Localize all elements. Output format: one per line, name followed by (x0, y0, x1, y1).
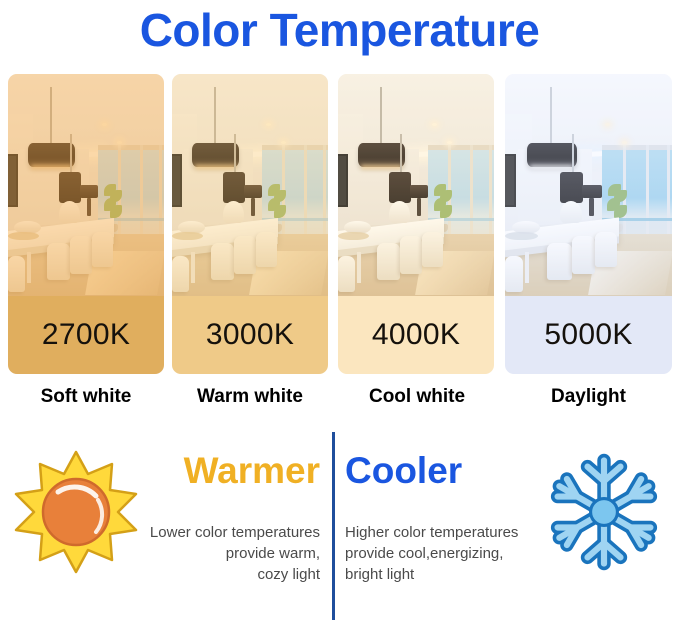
caption-cool-white: Cool white (338, 386, 496, 408)
panel-captions: Soft white Warm white Cool white Dayligh… (0, 386, 679, 418)
warmer-line-2: provide warm, (120, 543, 320, 564)
cooler-line-3: bright light (345, 564, 555, 585)
kelvin-label-2700k: 2700K (8, 296, 164, 374)
caption-daylight: Daylight (505, 386, 672, 408)
warmer-description: Lower color temperatures provide warm, c… (120, 522, 320, 585)
panel-3000k: 3000K (172, 74, 328, 374)
panel-5000k: 5000K (505, 74, 672, 374)
page-title: Color Temperature (0, 0, 679, 60)
warmer-line-3: cozy light (120, 564, 320, 585)
warmer-line-1: Lower color temperatures (120, 522, 320, 543)
color-temperature-panels: 2700K 3000K (0, 74, 679, 376)
kelvin-label-3000k: 3000K (172, 296, 328, 374)
cooler-description: Higher color temperatures provide cool,e… (345, 522, 555, 585)
warmer-heading: Warmer (140, 450, 320, 492)
caption-warm-white: Warm white (172, 386, 328, 408)
kelvin-label-4000k: 4000K (338, 296, 494, 374)
caption-soft-white: Soft white (8, 386, 164, 408)
kelvin-label-5000k: 5000K (505, 296, 672, 374)
comparison-divider (332, 432, 335, 620)
cooler-line-1: Higher color temperatures (345, 522, 555, 543)
room-photo-3000k (172, 74, 328, 296)
panel-2700k: 2700K (8, 74, 164, 374)
cooler-heading: Cooler (345, 450, 565, 492)
room-photo-2700k (8, 74, 164, 296)
panel-4000k: 4000K (338, 74, 494, 374)
room-photo-5000k (505, 74, 672, 296)
room-photo-4000k (338, 74, 494, 296)
cooler-line-2: provide cool,energizing, (345, 543, 555, 564)
